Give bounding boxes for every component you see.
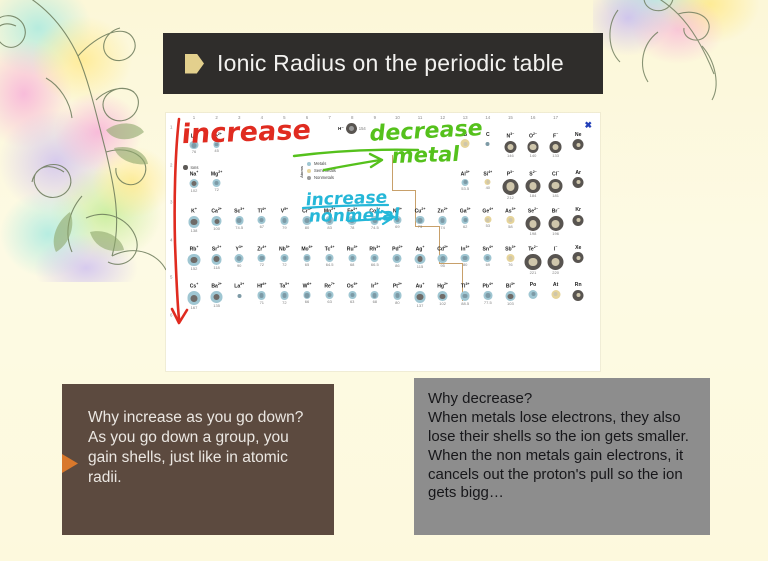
element-symbol: Br− bbox=[543, 208, 568, 215]
ion-radius-circle bbox=[258, 216, 266, 224]
ion-radius-circle bbox=[504, 141, 516, 153]
element-cell-la[interactable]: La3+ bbox=[227, 283, 252, 301]
ion-radius-value: 80 bbox=[453, 263, 478, 267]
ion-radius-value: 65 bbox=[295, 263, 320, 267]
ion-radius-value: 221 bbox=[521, 271, 546, 275]
element-cell-pd[interactable]: Pd2+86 bbox=[385, 246, 410, 268]
ion-radius-circle bbox=[235, 216, 243, 224]
element-cell-n[interactable]: N3−146 bbox=[498, 133, 523, 158]
element-symbol: Au+ bbox=[408, 283, 433, 290]
element-cell-hg[interactable]: Hg2+102 bbox=[430, 283, 455, 306]
ion-radius-value: 68 bbox=[340, 263, 365, 267]
ion-radius-value: 167 bbox=[182, 306, 207, 310]
element-symbol: Zn2+ bbox=[430, 208, 455, 215]
element-symbol: In3+ bbox=[453, 246, 478, 253]
ion-radius-circle bbox=[303, 291, 311, 299]
element-symbol: Nb5+ bbox=[272, 246, 297, 253]
ion-radius-value: 77.5 bbox=[475, 301, 500, 305]
ion-radius-circle bbox=[573, 177, 584, 188]
annotation-nonmetal: nonmetal bbox=[308, 205, 401, 227]
ion-radius-value: 102 bbox=[182, 189, 207, 193]
legend-atoms-label: Atoms bbox=[300, 166, 304, 178]
ion-radius-value: 115 bbox=[408, 265, 433, 269]
element-cell-re[interactable]: Re7+63 bbox=[317, 283, 342, 304]
element-symbol: Ta5+ bbox=[272, 283, 297, 290]
element-cell-ga[interactable]: Ga3+62 bbox=[453, 208, 478, 229]
callout-why-increase: Why increase as you go down?As you go do… bbox=[62, 384, 334, 535]
element-cell-na[interactable]: Na+102 bbox=[182, 171, 207, 194]
ion-radius-circle bbox=[461, 291, 470, 300]
element-symbol: F− bbox=[543, 133, 568, 140]
ion-radius-value: 64.5 bbox=[317, 263, 342, 267]
ion-radius-value: 66.5 bbox=[362, 263, 387, 267]
element-cell-ba[interactable]: Ba2+135 bbox=[204, 283, 229, 308]
close-icon[interactable]: ✖ bbox=[584, 121, 592, 130]
ion-radius-circle bbox=[438, 254, 447, 263]
column-number: 9 bbox=[374, 115, 376, 120]
column-number: 17 bbox=[553, 115, 558, 120]
element-symbol: Zr4+ bbox=[249, 246, 274, 253]
element-cell-cs[interactable]: Cs+167 bbox=[182, 283, 207, 309]
ion-radius-value: 103 bbox=[498, 302, 523, 306]
element-cell-v[interactable]: V5+79 bbox=[272, 208, 297, 230]
element-symbol: V5+ bbox=[272, 208, 297, 215]
metal-divider-segment bbox=[392, 190, 416, 191]
element-symbol: P3− bbox=[498, 171, 523, 178]
element-symbol: Bi3+ bbox=[498, 283, 523, 290]
element-symbol: Tl3+ bbox=[453, 283, 478, 290]
ion-radius-circle bbox=[525, 254, 541, 270]
element-symbol: Sr2+ bbox=[204, 246, 229, 253]
element-symbol: Os6+ bbox=[340, 283, 365, 290]
ion-radius-circle bbox=[235, 291, 244, 300]
ion-radius-value: 83 bbox=[317, 226, 342, 230]
element-cell-ne[interactable]: Ne bbox=[566, 133, 591, 151]
ion-radius-value: 74 bbox=[430, 226, 455, 230]
ion-radius-value: 79 bbox=[272, 226, 297, 230]
ion-radius-value: 181 bbox=[543, 194, 568, 198]
page-title: Ionic Radius on the periodic table bbox=[217, 50, 564, 77]
element-symbol: Pt2+ bbox=[385, 283, 410, 290]
ion-radius-circle bbox=[502, 179, 518, 195]
element-cell-sb[interactable]: Sb3+76 bbox=[498, 246, 523, 267]
ion-radius-value: 95 bbox=[430, 264, 455, 268]
periodic-table-figure[interactable]: ✖ 1234567891011121314151617 123456 H⁻ 15… bbox=[166, 113, 600, 371]
slide-canvas: Ionic Radius on the periodic table ✖ 123… bbox=[0, 0, 768, 561]
ion-radius-value: 137 bbox=[408, 304, 433, 308]
element-cell-o[interactable]: O2−140 bbox=[521, 133, 546, 158]
ion-radius-value: 146 bbox=[498, 154, 523, 158]
element-symbol: Kr bbox=[566, 208, 591, 213]
element-symbol: Pd2+ bbox=[385, 246, 410, 253]
ion-radius-value: 53 bbox=[475, 224, 500, 228]
ion-radius-circle bbox=[483, 139, 492, 148]
element-cell-al[interactable]: Al3+53.5 bbox=[453, 171, 478, 191]
column-number: 15 bbox=[508, 115, 513, 120]
ion-radius-circle bbox=[549, 179, 563, 193]
row-number: 1 bbox=[170, 125, 172, 130]
ion-radius-circle bbox=[551, 290, 560, 299]
row-number: 6 bbox=[170, 313, 172, 318]
row-number: 4 bbox=[170, 237, 172, 242]
ion-radius-circle bbox=[525, 216, 540, 231]
element-cell-ir[interactable]: Ir3+68 bbox=[362, 283, 387, 304]
element-symbol: Ne bbox=[566, 133, 591, 138]
element-symbol: Sn4+ bbox=[475, 246, 500, 253]
legend-item-label: Semimetals bbox=[314, 168, 336, 173]
ion-radius-value: 58 bbox=[498, 225, 523, 229]
element-cell-hf[interactable]: Hf4+71 bbox=[249, 283, 274, 304]
element-cell-te[interactable]: Te2−221 bbox=[521, 246, 546, 275]
ion-radius-circle bbox=[414, 291, 426, 303]
column-number: 16 bbox=[531, 115, 536, 120]
legend-item: Nonmetals bbox=[307, 175, 336, 180]
element-cell-nb[interactable]: Nb5+72 bbox=[272, 246, 297, 267]
legend-color-swatch bbox=[307, 169, 311, 173]
ion-radius-circle bbox=[415, 254, 426, 265]
element-symbol: Tc4+ bbox=[317, 246, 342, 253]
ion-radius-circle bbox=[211, 254, 222, 265]
element-symbol: Po bbox=[521, 283, 546, 288]
element-symbol: K+ bbox=[182, 208, 207, 215]
element-cell-i[interactable]: I−220 bbox=[543, 246, 568, 275]
ion-radius-circle bbox=[526, 179, 540, 193]
ion-radius-circle bbox=[211, 291, 223, 303]
element-cell-po[interactable]: Po bbox=[521, 283, 546, 299]
ion-radius-value: 63 bbox=[317, 300, 342, 304]
ion-radius-circle bbox=[484, 216, 491, 223]
element-symbol: Ag+ bbox=[408, 246, 433, 253]
ion-radius-value: 74.5 bbox=[227, 226, 252, 230]
ion-radius-circle bbox=[529, 290, 538, 299]
element-symbol: Al3+ bbox=[453, 171, 478, 178]
annotation-metal: metal bbox=[390, 142, 461, 168]
element-cell-in[interactable]: In3+80 bbox=[453, 246, 478, 268]
ion-radius-circle bbox=[189, 179, 199, 189]
element-cell-br[interactable]: Br−196 bbox=[543, 208, 568, 236]
element-symbol: Ar bbox=[566, 171, 591, 176]
column-number: 8 bbox=[351, 115, 353, 120]
element-cell-ar[interactable]: Ar bbox=[566, 171, 591, 189]
ion-radius-value: 118 bbox=[204, 266, 229, 270]
ion-radius-circle bbox=[438, 216, 446, 224]
element-cell-rh[interactable]: Rh3+66.5 bbox=[362, 246, 387, 267]
ion-radius-circle bbox=[527, 141, 539, 153]
callout-right-text: Why decrease?When metals lose electrons,… bbox=[428, 390, 697, 503]
ion-radius-value: 74.5 bbox=[362, 226, 387, 230]
ion-radius-circle bbox=[505, 291, 515, 301]
ion-radius-value: 72 bbox=[272, 263, 297, 267]
ion-radius-value: 88.5 bbox=[453, 302, 478, 306]
element-symbol: Mo6+ bbox=[295, 246, 320, 253]
ion-radius-value: 138 bbox=[182, 229, 207, 233]
ion-radius-value: 133 bbox=[543, 154, 568, 158]
ion-radius-circle bbox=[461, 216, 469, 224]
element-symbol: Sb3+ bbox=[498, 246, 523, 253]
element-cell-sr[interactable]: Sr2+118 bbox=[204, 246, 229, 270]
ion-radius-value: 212 bbox=[498, 196, 523, 200]
element-cell-os[interactable]: Os6+63 bbox=[340, 283, 365, 304]
legend-item-label: Metals bbox=[314, 161, 326, 166]
element-cell-s[interactable]: S2−184 bbox=[521, 171, 546, 198]
legend-category-list: MetalsSemimetalsNonmetals bbox=[307, 161, 336, 183]
ion-radius-circle bbox=[258, 291, 266, 299]
ion-radius-value: 184 bbox=[521, 194, 546, 198]
ion-radius-circle bbox=[461, 254, 470, 263]
element-cell-cu[interactable]: Cu2+73 bbox=[408, 208, 433, 229]
ion-radius-value: 62 bbox=[453, 225, 478, 229]
ion-radius-circle bbox=[462, 179, 469, 186]
element-cell-mo[interactable]: Mo6+65 bbox=[295, 246, 320, 267]
ion-radius-value: 69 bbox=[385, 225, 410, 229]
column-number: 14 bbox=[485, 115, 490, 120]
green-arrow-head bbox=[370, 154, 382, 167]
ion-radius-circle bbox=[348, 291, 356, 299]
row-number: 3 bbox=[170, 200, 172, 205]
ion-radius-value: 220 bbox=[543, 271, 568, 275]
ion-radius-circle bbox=[416, 216, 424, 224]
element-cell-se[interactable]: Se2−198 bbox=[521, 208, 546, 236]
element-symbol: Sc3+ bbox=[227, 208, 252, 215]
ion-radius-value: 69 bbox=[475, 263, 500, 267]
ion-radius-value: 68 bbox=[362, 300, 387, 304]
ion-radius-value: 73 bbox=[408, 225, 433, 229]
element-symbol: Ir3+ bbox=[362, 283, 387, 290]
ion-radius-value: 76 bbox=[498, 263, 523, 267]
element-symbol: Ga3+ bbox=[453, 208, 478, 215]
element-cell-zn[interactable]: Zn2+74 bbox=[430, 208, 455, 229]
element-symbol: As3+ bbox=[498, 208, 523, 215]
element-symbol: Rb+ bbox=[182, 246, 207, 253]
ion-radius-value: 63 bbox=[340, 300, 365, 304]
element-cell-as[interactable]: As3+58 bbox=[498, 208, 523, 228]
ion-radius-circle bbox=[484, 254, 492, 262]
element-cell-pt[interactable]: Pt2+80 bbox=[385, 283, 410, 305]
element-cell-rb[interactable]: Rb+152 bbox=[182, 246, 207, 272]
ion-dot-icon bbox=[183, 165, 188, 170]
ion-radius-value: 72 bbox=[204, 188, 229, 192]
legend-item-label: Nonmetals bbox=[314, 175, 334, 180]
ion-radius-value: 45 bbox=[204, 149, 229, 153]
element-cell-rn[interactable]: Rn bbox=[566, 283, 591, 301]
element-cell-tc[interactable]: Tc4+64.5 bbox=[317, 246, 342, 267]
ion-radius-circle bbox=[326, 254, 334, 262]
element-cell-zr[interactable]: Zr4+72 bbox=[249, 246, 274, 267]
ion-radius-circle bbox=[187, 291, 200, 304]
ion-radius-circle bbox=[393, 254, 402, 263]
element-symbol: Cl− bbox=[543, 171, 568, 178]
red-down-arrow-head bbox=[172, 309, 187, 323]
size-reference: H⁻ 154 bbox=[338, 123, 366, 134]
element-symbol: N3− bbox=[498, 133, 523, 140]
element-cell-mg[interactable]: Mg2+72 bbox=[204, 171, 229, 192]
ion-radius-circle bbox=[280, 216, 289, 225]
element-cell-k[interactable]: K+138 bbox=[182, 208, 207, 233]
ion-radius-circle bbox=[393, 291, 402, 300]
callout-left-text: Why increase as you go down?As you go do… bbox=[88, 408, 316, 489]
column-number: 7 bbox=[328, 115, 330, 120]
ion-radius-circle bbox=[573, 290, 584, 301]
element-symbol: W6+ bbox=[295, 283, 320, 290]
ion-radius-circle bbox=[235, 254, 244, 263]
ion-radius-circle bbox=[547, 254, 563, 270]
element-symbol: Cu2+ bbox=[408, 208, 433, 215]
element-symbol: Rh3+ bbox=[362, 246, 387, 253]
element-symbol: Ru3+ bbox=[340, 246, 365, 253]
element-symbol: At bbox=[543, 283, 568, 288]
element-symbol: Mg2+ bbox=[204, 171, 229, 178]
element-cell-cd[interactable]: Cd2+95 bbox=[430, 246, 455, 269]
ion-radius-circle bbox=[371, 291, 379, 299]
ion-radius-value: 76 bbox=[182, 150, 207, 154]
element-symbol: Hf4+ bbox=[249, 283, 274, 290]
element-cell-tl[interactable]: Tl3+88.5 bbox=[453, 283, 478, 305]
element-cell-cl[interactable]: Cl−181 bbox=[543, 171, 568, 198]
ion-radius-value: 67 bbox=[249, 225, 274, 229]
ion-radius-circle bbox=[507, 216, 514, 223]
legend-color-swatch bbox=[307, 176, 311, 180]
element-cell-ti[interactable]: Ti4+67 bbox=[249, 208, 274, 229]
element-cell-si[interactable]: Si4+40 bbox=[475, 171, 500, 190]
element-cell-w[interactable]: W6+66 bbox=[295, 283, 320, 304]
element-symbol: Cd2+ bbox=[430, 246, 455, 253]
ion-radius-value: 140 bbox=[521, 154, 546, 158]
ion-radius-value: 71 bbox=[249, 301, 274, 305]
row-number: 5 bbox=[170, 275, 172, 280]
element-cell-ag[interactable]: Ag+115 bbox=[408, 246, 433, 270]
element-cell-ru[interactable]: Ru3+68 bbox=[340, 246, 365, 267]
periodic-table-inner: ✖ 1234567891011121314151617 123456 H⁻ 15… bbox=[166, 113, 600, 371]
ion-radius-value: 90 bbox=[227, 264, 252, 268]
slide-title-bar: Ionic Radius on the periodic table bbox=[163, 33, 603, 94]
element-cell-ge[interactable]: Ge4+53 bbox=[475, 208, 500, 228]
element-cell-kr[interactable]: Kr bbox=[566, 208, 591, 226]
ion-radius-value: 198 bbox=[521, 232, 546, 236]
ion-radius-circle bbox=[188, 254, 201, 267]
element-symbol: Y3+ bbox=[227, 246, 252, 253]
ion-radius-circle bbox=[212, 216, 222, 226]
size-reference-value: 154 bbox=[359, 126, 366, 131]
element-symbol: Si4+ bbox=[475, 171, 500, 178]
element-cell-sn[interactable]: Sn4+69 bbox=[475, 246, 500, 267]
ion-radius-value: 86 bbox=[385, 264, 410, 268]
element-cell-sc[interactable]: Sc3+74.5 bbox=[227, 208, 252, 229]
ion-radius-circle bbox=[506, 254, 514, 262]
element-symbol: Re7+ bbox=[317, 283, 342, 290]
ion-radius-circle bbox=[326, 291, 334, 299]
element-cell-au[interactable]: Au+137 bbox=[408, 283, 433, 308]
ion-radius-value: 80 bbox=[385, 301, 410, 305]
floral-decoration-top-right bbox=[593, 0, 768, 120]
element-cell-f[interactable]: F−133 bbox=[543, 133, 568, 158]
element-symbol: Ti4+ bbox=[249, 208, 274, 215]
element-cell-p[interactable]: P3−212 bbox=[498, 171, 523, 200]
element-symbol: Na+ bbox=[182, 171, 207, 178]
legend-item: Semimetals bbox=[307, 168, 336, 173]
size-reference-label: H⁻ bbox=[338, 126, 344, 132]
legend-item: Metals bbox=[307, 161, 336, 166]
callout-why-decrease: Why decrease?When metals lose electrons,… bbox=[414, 378, 710, 535]
ion-radius-circle bbox=[303, 254, 311, 262]
element-symbol: Cs+ bbox=[182, 283, 207, 290]
element-symbol: I− bbox=[543, 246, 568, 253]
element-symbol: O2− bbox=[521, 133, 546, 140]
red-down-arrow-shaft bbox=[175, 119, 179, 319]
element-cell-xe[interactable]: Xe bbox=[566, 246, 591, 264]
ion-radius-circle bbox=[573, 252, 584, 263]
ion-radius-circle bbox=[348, 254, 356, 262]
annotation-increase-down: increase bbox=[180, 115, 312, 150]
ion-radius-circle bbox=[548, 216, 563, 231]
ion-radius-value: 53.5 bbox=[453, 187, 478, 191]
ion-radius-circle bbox=[280, 254, 288, 262]
ion-radius-circle bbox=[188, 216, 200, 228]
element-symbol: Pb4+ bbox=[475, 283, 500, 290]
element-cell-at[interactable]: At bbox=[543, 283, 568, 299]
element-symbol: Rn bbox=[566, 283, 591, 288]
ion-radius-circle bbox=[573, 139, 584, 150]
element-symbol: Xe bbox=[566, 246, 591, 251]
bullet-arrow-icon bbox=[62, 454, 78, 473]
element-symbol: Se2− bbox=[521, 208, 546, 215]
legend-color-swatch bbox=[307, 162, 311, 166]
element-symbol: S2− bbox=[521, 171, 546, 178]
ion-radius-circle bbox=[280, 291, 288, 299]
ion-radius-value: 100 bbox=[204, 227, 229, 231]
ion-radius-circle bbox=[371, 254, 379, 262]
ion-radius-circle bbox=[573, 215, 584, 226]
ion-radius-circle bbox=[258, 254, 266, 262]
element-symbol: Te2− bbox=[521, 246, 546, 253]
element-symbol: La3+ bbox=[227, 283, 252, 290]
element-cell-y[interactable]: Y3+90 bbox=[227, 246, 252, 268]
ion-radius-value: 196 bbox=[543, 232, 568, 236]
ion-radius-circle bbox=[550, 141, 562, 153]
column-number: 10 bbox=[395, 115, 400, 120]
ion-radius-value: 102 bbox=[430, 302, 455, 306]
ion-radius-circle bbox=[484, 291, 492, 299]
row-number: 2 bbox=[170, 162, 172, 167]
element-symbol: Hg2+ bbox=[430, 283, 455, 290]
ion-radius-value: 72 bbox=[272, 301, 297, 305]
element-cell-ca[interactable]: Ca2+100 bbox=[204, 208, 229, 231]
legend-atoms: Atoms MetalsSemimetalsNonmetals bbox=[300, 161, 336, 183]
ion-radius-circle bbox=[213, 179, 221, 187]
ion-radius-value: 40 bbox=[475, 186, 500, 190]
element-symbol: Ge4+ bbox=[475, 208, 500, 215]
element-symbol: Ba2+ bbox=[204, 283, 229, 290]
ion-radius-value: 152 bbox=[182, 267, 207, 271]
ion-radius-value: 78 bbox=[340, 226, 365, 230]
element-cell-pb[interactable]: Pb4+77.5 bbox=[475, 283, 500, 305]
ion-radius-circle bbox=[438, 291, 448, 301]
ion-radius-value: 135 bbox=[204, 304, 229, 308]
element-symbol: Ca2+ bbox=[204, 208, 229, 215]
element-cell-bi[interactable]: Bi3+103 bbox=[498, 283, 523, 306]
title-bullet-icon bbox=[185, 54, 204, 74]
ion-radius-value: 66 bbox=[295, 300, 320, 304]
element-cell-ta[interactable]: Ta5+72 bbox=[272, 283, 297, 304]
ion-radius-value: 72 bbox=[249, 263, 274, 267]
